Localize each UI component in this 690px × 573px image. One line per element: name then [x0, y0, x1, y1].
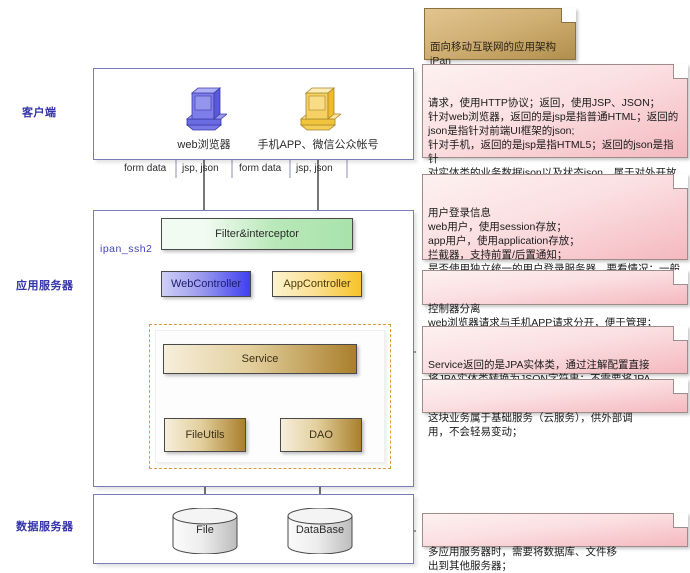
app-controller-label: AppController: [283, 278, 350, 290]
note-service-jpa: Service返回的是JPA实体类，通过注解配置直接 将JPA实体类转换为JSO…: [422, 326, 688, 374]
filter-interceptor-node[interactable]: Filter&interceptor: [161, 218, 353, 250]
service-node[interactable]: Service: [163, 344, 357, 374]
file-store-label: File: [170, 524, 240, 536]
tier-label-database-server: 数据服务器: [16, 518, 74, 534]
database-store-label: DataBase: [285, 524, 355, 536]
mobile-app-caption: 手机APP、微信公众帐号: [250, 136, 386, 152]
edge-label-web-form-data: form data: [124, 163, 166, 174]
desktop-computer-icon: [181, 85, 227, 133]
note-fold-corner-icon: [561, 8, 576, 23]
file-utils-label: FileUtils: [185, 429, 224, 441]
note-fold-corner-icon: [673, 270, 688, 285]
database-store-node[interactable]: DataBase: [285, 508, 355, 554]
database-tier-frame: [93, 494, 414, 564]
edge-label-app-form-data: form data: [239, 163, 281, 174]
file-utils-node[interactable]: FileUtils: [164, 418, 246, 452]
title-note: 面向移动互联网的应用架构 iPan 2014-05-09: [424, 8, 576, 60]
note-multi-server: 多应用服务器时，需要将数据库、文件移 出到其他服务器；: [422, 513, 688, 547]
tier-label-app-server: 应用服务器: [16, 277, 74, 293]
note-base-service: 这块业务属于基础服务（云服务），供外部调 用，不会轻易变动；: [422, 379, 688, 413]
web-controller-label: WebController: [171, 278, 241, 290]
dao-node[interactable]: DAO: [280, 418, 362, 452]
dao-label: DAO: [309, 429, 333, 441]
service-label: Service: [242, 353, 279, 365]
web-browser-node[interactable]: [181, 85, 227, 133]
note-login-info: 用户登录信息 web用户，使用session存放； app用户，使用applic…: [422, 174, 688, 260]
mobile-app-node[interactable]: [295, 85, 341, 133]
tier-label-client: 客户端: [22, 104, 57, 120]
web-controller-node[interactable]: WebController: [161, 271, 251, 297]
note-request-response: 请求，使用HTTP协议；返回，使用JSP、JSON； 针对web浏览器，返回的是…: [422, 64, 688, 158]
package-label-ipan-ssh2: ipan_ssh2: [100, 243, 152, 255]
note-fold-corner-icon: [673, 326, 688, 341]
note-controller-separation: 控制器分离 web浏览器请求与手机APP请求分开，便于管理；: [422, 270, 688, 305]
note-fold-corner-icon: [673, 379, 688, 394]
edge-label-app-jsp-json: jsp, json: [296, 163, 333, 174]
desktop-computer-icon: [295, 85, 341, 133]
edge-label-web-jsp-json: jsp, json: [182, 163, 219, 174]
filter-interceptor-label: Filter&interceptor: [215, 228, 299, 240]
app-controller-node[interactable]: AppController: [272, 271, 362, 297]
note-fold-corner-icon: [673, 64, 688, 79]
note-fold-corner-icon: [673, 174, 688, 189]
web-browser-caption: web浏览器: [154, 136, 254, 152]
file-store-node[interactable]: File: [170, 508, 240, 554]
note-fold-corner-icon: [673, 513, 688, 528]
